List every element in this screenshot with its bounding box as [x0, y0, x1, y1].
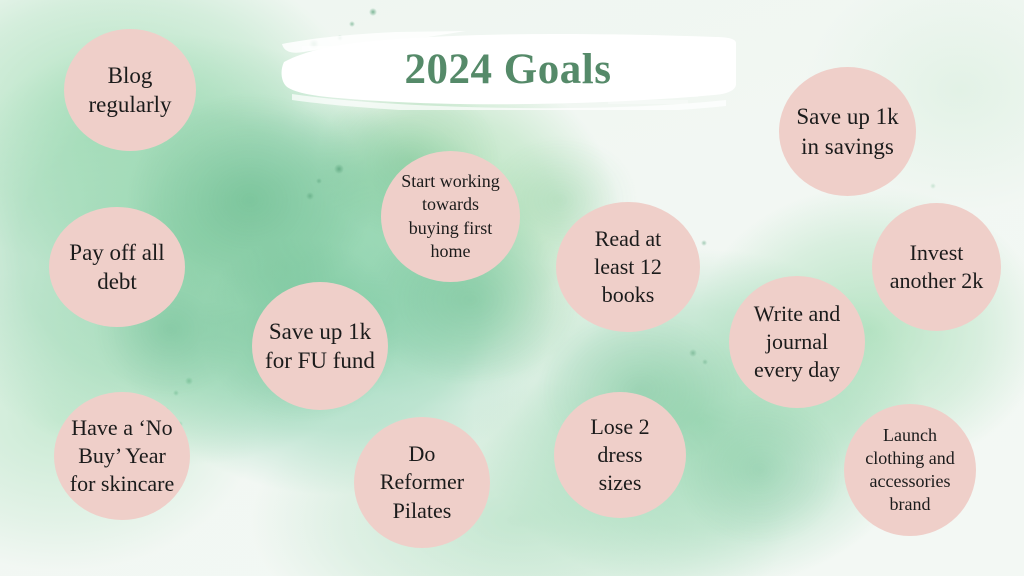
goal-bubble-buy-first-home[interactable]: Start working towards buying first home [381, 151, 520, 282]
goal-bubble-blog-regularly[interactable]: Blog regularly [64, 29, 196, 151]
goal-bubble-write-and-journal[interactable]: Write and journal every day [729, 276, 865, 408]
goal-text: Read at least 12 books [586, 225, 670, 309]
goal-text: Save up 1k in savings [788, 102, 906, 161]
goal-bubble-launch-clothing-brand[interactable]: Launch clothing and accessories brand [844, 404, 976, 536]
goal-bubble-pay-off-debt[interactable]: Pay off all debt [49, 207, 185, 327]
goal-bubble-save-1k-savings[interactable]: Save up 1k in savings [779, 67, 916, 196]
goal-text: Have a ‘No Buy’ Year for skincare [62, 414, 182, 498]
goal-text: Write and journal every day [746, 300, 848, 384]
goal-text: Start working towards buying first home [393, 170, 508, 262]
goal-bubble-reformer-pilates[interactable]: Do Reformer Pilates [354, 417, 490, 548]
page-title: 2024 Goals [278, 38, 738, 100]
goal-bubble-save-fu-fund[interactable]: Save up 1k for FU fund [252, 282, 388, 410]
goals-poster: 2024 Goals Blog regularly Pay off all de… [0, 0, 1024, 576]
goal-text: Save up 1k for FU fund [257, 317, 383, 376]
goal-bubble-no-buy-skincare[interactable]: Have a ‘No Buy’ Year for skincare [54, 392, 190, 520]
goal-bubble-read-12-books[interactable]: Read at least 12 books [556, 202, 700, 332]
goal-text: Pay off all debt [61, 238, 172, 297]
goal-bubble-invest-another-2k[interactable]: Invest another 2k [872, 203, 1001, 331]
goal-bubble-lose-2-dress-sizes[interactable]: Lose 2 dress sizes [554, 392, 686, 518]
goal-text: Do Reformer Pilates [372, 440, 472, 524]
goal-text: Blog regularly [80, 61, 179, 120]
goal-text: Launch clothing and accessories brand [857, 424, 962, 516]
goal-text: Invest another 2k [882, 239, 991, 295]
goal-text: Lose 2 dress sizes [582, 413, 657, 497]
